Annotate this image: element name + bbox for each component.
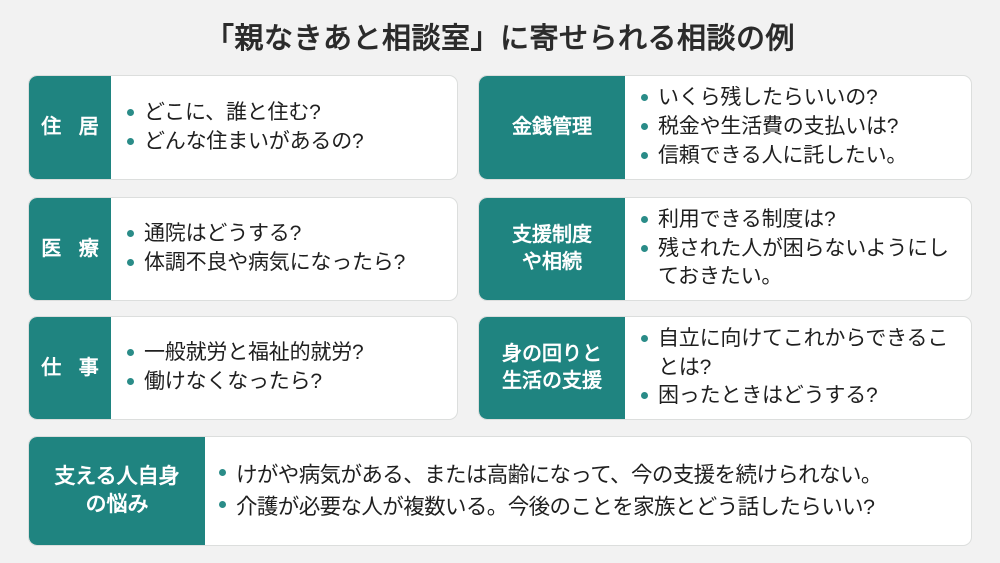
list-item: 働けなくなったら? [125, 368, 447, 397]
list-item: けがや病気がある、または高齢になって、今の支援を続けられない。 [217, 459, 961, 491]
card-body-work: 一般就労と福祉的就労? 働けなくなったら? [111, 317, 457, 419]
list-item: どこに、誰と住む? [125, 99, 447, 128]
card-support-systems-inheritance: 支援制度 や相続 利用できる制度は? 残された人が困らないようにしておきたい。 [478, 197, 972, 301]
card-body-medical: 通院はどうする? 体調不良や病気になったら? [111, 198, 457, 300]
list-item: いくら残したらいいの? [639, 84, 961, 113]
list-item: 一般就労と福祉的就労? [125, 339, 447, 368]
list-item: 残された人が困らないようにしておきたい。 [639, 235, 961, 293]
list-item: どんな住まいがあるの? [125, 128, 447, 157]
infographic-page: 「親なきあと相談室」に寄せられる相談の例 住 居 どこに、誰と住む? どんな住ま… [0, 0, 1000, 563]
card-body-daily-living-support: 自立に向けてこれからできることは? 困ったときはどうする? [625, 317, 971, 419]
list-item: 信頼できる人に託したい。 [639, 142, 961, 171]
card-money-management: 金銭管理 いくら残したらいいの? 税金や生活費の支払いは? 信頼できる人に託した… [478, 75, 972, 180]
page-title: 「親なきあと相談室」に寄せられる相談の例 [0, 15, 1000, 57]
list-item: 介護が必要な人が複数いる。今後のことを家族とどう話したらいい? [217, 491, 961, 523]
card-body-support-systems-inheritance: 利用できる制度は? 残された人が困らないようにしておきたい。 [625, 198, 971, 300]
card-work: 仕 事 一般就労と福祉的就労? 働けなくなったら? [28, 316, 458, 420]
card-label-work: 仕 事 [29, 317, 111, 419]
card-housing: 住 居 どこに、誰と住む? どんな住まいがあるの? [28, 75, 458, 180]
card-body-housing: どこに、誰と住む? どんな住まいがあるの? [111, 76, 457, 179]
list-item: 体調不良や病気になったら? [125, 249, 447, 278]
list-item: 税金や生活費の支払いは? [639, 113, 961, 142]
card-label-medical: 医 療 [29, 198, 111, 300]
list-item: 困ったときはどうする? [639, 382, 961, 411]
card-body-money-management: いくら残したらいいの? 税金や生活費の支払いは? 信頼できる人に託したい。 [625, 76, 971, 179]
card-label-housing: 住 居 [29, 76, 111, 179]
card-label-supporters-own-worries: 支える人自身 の悩み [29, 437, 205, 545]
card-supporters-own-worries: 支える人自身 の悩み けがや病気がある、または高齢になって、今の支援を続けられな… [28, 436, 972, 546]
card-medical: 医 療 通院はどうする? 体調不良や病気になったら? [28, 197, 458, 301]
list-item: 利用できる制度は? [639, 206, 961, 235]
card-label-support-systems-inheritance: 支援制度 や相続 [479, 198, 625, 300]
card-body-supporters-own-worries: けがや病気がある、または高齢になって、今の支援を続けられない。 介護が必要な人が… [205, 437, 971, 545]
card-daily-living-support: 身の回りと 生活の支援 自立に向けてこれからできることは? 困ったときはどうする… [478, 316, 972, 420]
list-item: 通院はどうする? [125, 220, 447, 249]
card-label-money-management: 金銭管理 [479, 76, 625, 179]
card-label-daily-living-support: 身の回りと 生活の支援 [479, 317, 625, 419]
list-item: 自立に向けてこれからできることは? [639, 325, 961, 383]
